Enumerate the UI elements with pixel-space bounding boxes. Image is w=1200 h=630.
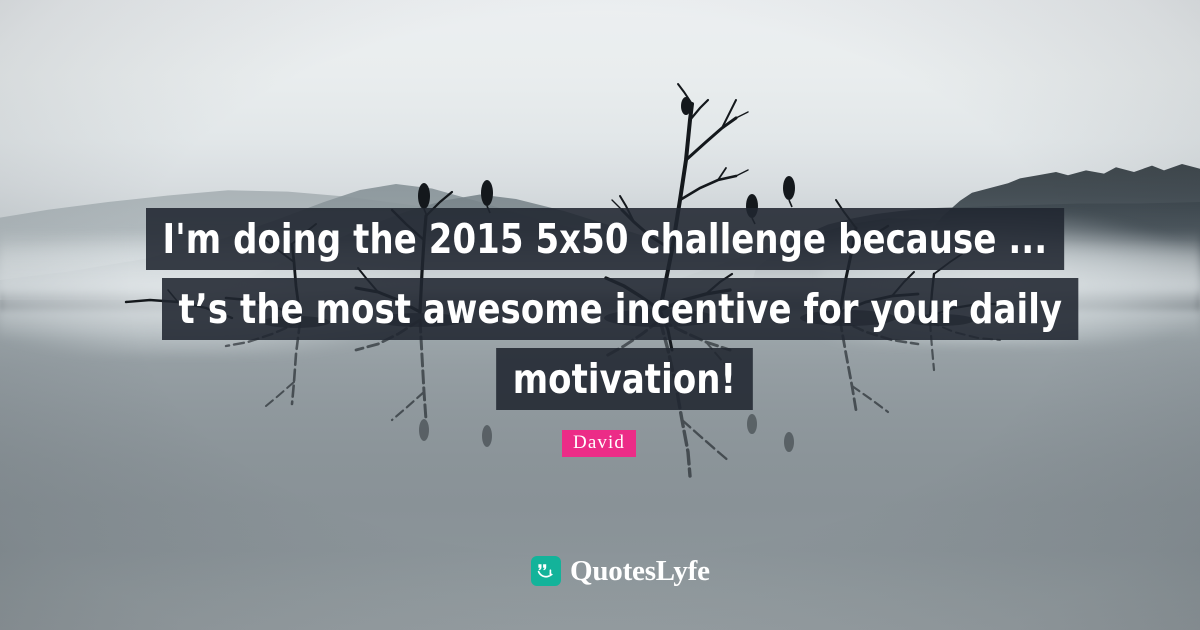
quote-line-1: I'm doing the 2015 5x50 challenge becaus…: [146, 208, 1064, 270]
quote-bubble-icon: [531, 556, 561, 586]
brand-name: QuotesLyfe: [570, 556, 710, 586]
quote-line-3: motivation!: [496, 348, 752, 410]
quote-text-block: I'm doing the 2015 5x50 challenge becaus…: [0, 0, 1200, 470]
quote-card: I'm doing the 2015 5x50 challenge becaus…: [0, 0, 1200, 630]
quoteslyfe-logo[interactable]: QuotesLyfe: [531, 556, 710, 586]
author-name-badge: David: [562, 430, 636, 457]
quote-line-2: t’s the most awesome incentive for your …: [162, 278, 1079, 340]
